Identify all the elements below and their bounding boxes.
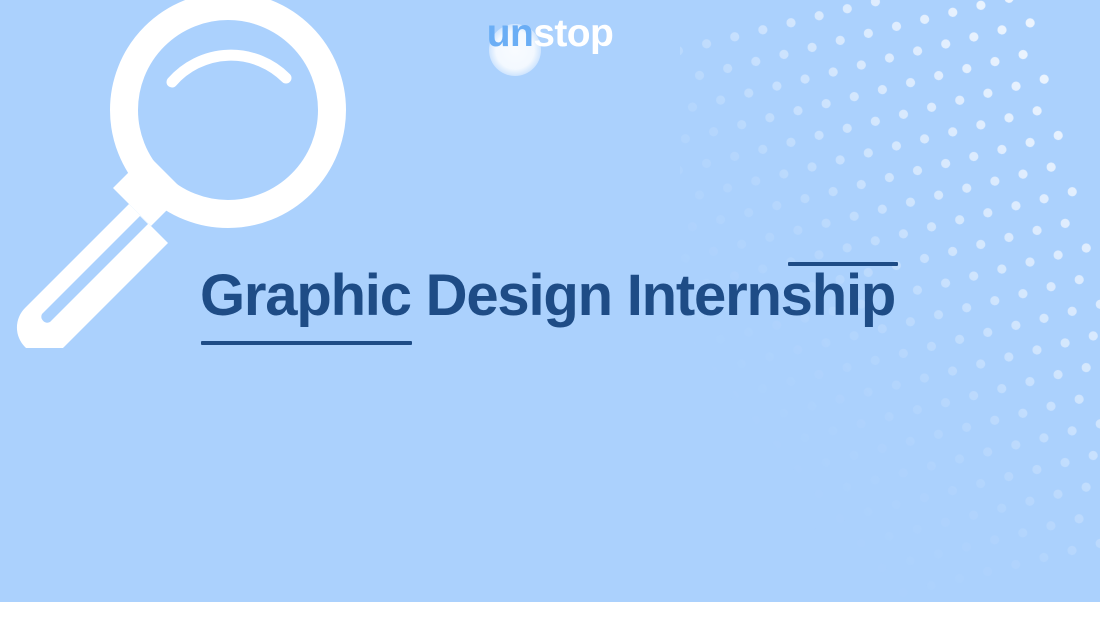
banner: unstop Graphic Design Internship [0, 0, 1100, 602]
brand-logo-text: unstop [487, 14, 613, 53]
brand-logo-un: un [487, 12, 533, 55]
rule-under-graphic [201, 341, 412, 345]
bottom-white-strip [0, 602, 1100, 630]
brand-logo[interactable]: unstop [0, 14, 1100, 53]
page-title: Graphic Design Internship [200, 266, 920, 325]
brand-logo-stop: stop [533, 12, 613, 55]
